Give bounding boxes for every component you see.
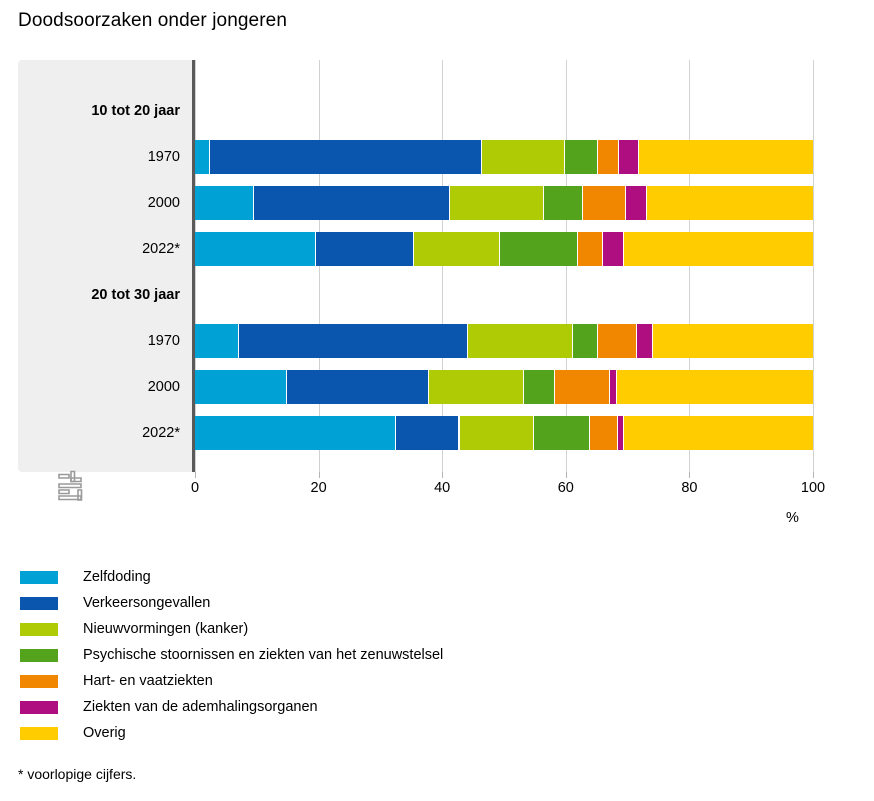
bar-segment-2[interactable] — [316, 232, 414, 266]
legend-item-6[interactable]: Ziekten van de ademhalingsorganen — [20, 696, 840, 718]
x-tick-20 — [319, 472, 320, 478]
page-title: Doodsoorzaken onder jongeren — [18, 10, 287, 32]
bar-segment-4[interactable] — [565, 140, 598, 174]
bar-segment-6[interactable] — [637, 324, 652, 358]
legend-label: Verkeersongevallen — [83, 595, 210, 611]
x-tick-label-80: 80 — [681, 480, 697, 496]
legend-swatch-icon — [20, 597, 58, 610]
bar-segment-3[interactable] — [450, 186, 543, 220]
bar-row: 2022* — [18, 410, 814, 456]
x-tick-100 — [813, 472, 814, 478]
bar-segment-5[interactable] — [578, 232, 603, 266]
bar-segment-5[interactable] — [598, 324, 638, 358]
bar-segment-3[interactable] — [460, 416, 534, 450]
bar-segment-7[interactable] — [617, 370, 813, 404]
legend-label: Ziekten van de ademhalingsorganen — [83, 699, 318, 715]
bar-segment-2[interactable] — [210, 140, 482, 174]
x-tick-60 — [566, 472, 567, 478]
x-tick-label-0: 0 — [191, 480, 199, 496]
bar-rows: 10 tot 20 jaar197020002022*20 tot 30 jaa… — [18, 60, 814, 472]
legend-swatch-icon — [20, 623, 58, 636]
bar-segment-4[interactable] — [544, 186, 584, 220]
bar-segment-2[interactable] — [254, 186, 451, 220]
legend-swatch-icon — [20, 649, 58, 662]
bar-segment-7[interactable] — [653, 324, 813, 358]
chart-container: Doodsoorzaken onder jongeren 10 tot 20 j… — [0, 0, 874, 801]
stacked-bar — [195, 140, 813, 174]
bar-row: 2022* — [18, 226, 814, 272]
bar-segment-1[interactable] — [195, 416, 396, 450]
bar-segment-5[interactable] — [598, 140, 619, 174]
legend-item-2[interactable]: Verkeersongevallen — [20, 592, 840, 614]
bar-segment-3[interactable] — [414, 232, 500, 266]
row-label: 1970 — [18, 149, 186, 165]
bar-segment-2[interactable] — [239, 324, 468, 358]
bar-segment-4[interactable] — [500, 232, 578, 266]
bar-segment-6[interactable] — [626, 186, 647, 220]
row-label: 2022* — [18, 425, 186, 441]
x-axis: 020406080100 — [18, 472, 814, 506]
bar-row: 1970 — [18, 318, 814, 364]
stacked-bar — [195, 416, 813, 450]
bar-segment-5[interactable] — [583, 186, 626, 220]
legend-swatch-icon — [20, 701, 58, 714]
bar-segment-3[interactable] — [429, 370, 524, 404]
footnote: * voorlopige cijfers. — [18, 766, 136, 782]
legend-label: Psychische stoornissen en ziekten van he… — [83, 647, 443, 663]
bar-segment-1[interactable] — [195, 232, 316, 266]
bar-segment-7[interactable] — [639, 140, 813, 174]
row-label: 2022* — [18, 241, 186, 257]
legend-label: Overig — [83, 725, 126, 741]
legend-swatch-icon — [20, 727, 58, 740]
group-label: 10 tot 20 jaar — [18, 103, 186, 119]
legend-label: Hart- en vaatziekten — [83, 673, 213, 689]
legend-item-7[interactable]: Overig — [20, 722, 840, 744]
legend-item-4[interactable]: Psychische stoornissen en ziekten van he… — [20, 644, 840, 666]
row-label: 1970 — [18, 333, 186, 349]
stacked-bar — [195, 186, 813, 220]
stacked-bar — [195, 232, 813, 266]
plot-area: 10 tot 20 jaar197020002022*20 tot 30 jaa… — [18, 60, 814, 472]
bar-segment-1[interactable] — [195, 324, 239, 358]
bar-segment-1[interactable] — [195, 370, 287, 404]
stacked-bar — [195, 324, 813, 358]
stacked-bar — [195, 370, 813, 404]
legend-swatch-icon — [20, 675, 58, 688]
bar-segment-7[interactable] — [624, 232, 813, 266]
legend: ZelfdodingVerkeersongevallenNieuwvorming… — [20, 566, 840, 748]
bar-segment-6[interactable] — [619, 140, 639, 174]
x-tick-label-100: 100 — [801, 480, 825, 496]
bar-segment-6[interactable] — [610, 370, 617, 404]
bar-segment-2[interactable] — [287, 370, 429, 404]
bar-segment-7[interactable] — [624, 416, 813, 450]
x-tick-80 — [689, 472, 690, 478]
bar-segment-3[interactable] — [468, 324, 573, 358]
bar-row: 2000 — [18, 364, 814, 410]
legend-label: Nieuwvormingen (kanker) — [83, 621, 248, 637]
bar-row: 2000 — [18, 180, 814, 226]
bar-row: 1970 — [18, 134, 814, 180]
bar-segment-5[interactable] — [555, 370, 610, 404]
group-header-row: 10 tot 20 jaar — [18, 88, 814, 134]
bar-segment-4[interactable] — [534, 416, 590, 450]
bar-segment-2[interactable] — [396, 416, 459, 450]
row-label: 2000 — [18, 379, 186, 395]
legend-swatch-icon — [20, 571, 58, 584]
group-label: 20 tot 30 jaar — [18, 287, 186, 303]
x-tick-40 — [442, 472, 443, 478]
x-axis-unit-label: % — [786, 510, 799, 526]
bar-segment-4[interactable] — [573, 324, 598, 358]
x-tick-label-20: 20 — [311, 480, 327, 496]
legend-item-3[interactable]: Nieuwvormingen (kanker) — [20, 618, 840, 640]
group-header-row: 20 tot 30 jaar — [18, 272, 814, 318]
legend-item-5[interactable]: Hart- en vaatziekten — [20, 670, 840, 692]
x-tick-0 — [195, 472, 196, 478]
bar-segment-7[interactable] — [647, 186, 813, 220]
bar-segment-3[interactable] — [482, 140, 565, 174]
x-tick-label-40: 40 — [434, 480, 450, 496]
bar-segment-1[interactable] — [195, 140, 210, 174]
bar-segment-6[interactable] — [603, 232, 624, 266]
x-tick-label-60: 60 — [558, 480, 574, 496]
bar-segment-1[interactable] — [195, 186, 254, 220]
legend-item-1[interactable]: Zelfdoding — [20, 566, 840, 588]
row-label: 2000 — [18, 195, 186, 211]
legend-label: Zelfdoding — [83, 569, 151, 585]
bar-segment-4[interactable] — [524, 370, 555, 404]
bar-segment-5[interactable] — [590, 416, 618, 450]
